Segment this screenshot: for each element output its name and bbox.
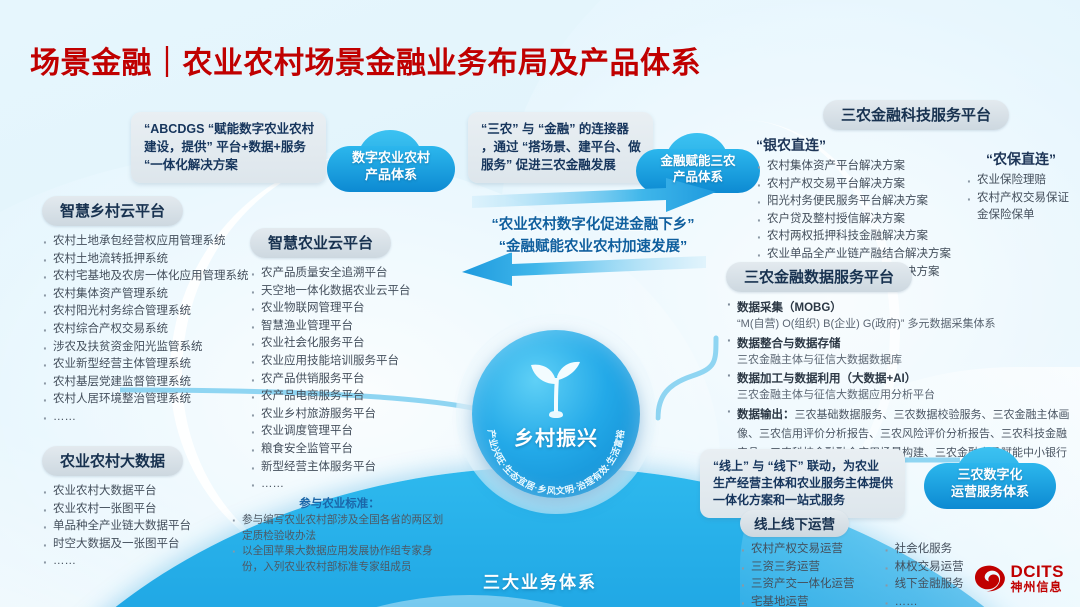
panel-data-service-heading: 三农金融数据服务平台: [726, 262, 912, 292]
brand-logo: DCITS 神州信息: [972, 563, 1065, 593]
callout-center: “三农” 与 “金融” 的连接器 ，通过 “搭场景、建平台、做 服务” 促进三农…: [468, 112, 653, 183]
list-item: 农业保险理赔: [966, 172, 1076, 190]
list-item: 农业新型经营主体管理系统: [42, 356, 257, 374]
list-item: ……: [884, 594, 990, 607]
logo-cn: 神州信息: [1011, 581, 1065, 593]
list-item: 以全国苹果大数据应用发展协作组专家身份，入列农业农村部标准专家组成员: [232, 544, 447, 575]
callout-br-line1: “线上” 与 “线下” 联动，为农业: [713, 458, 893, 475]
logo-wordmark: DCITS 神州信息: [1011, 563, 1065, 593]
list-item: 农村阳光村务综合管理系统: [42, 303, 257, 321]
central-hub-rural-revitalization[interactable]: 乡村振兴 产业兴旺·生态宜居·乡风文明·治理有效·生活富裕: [472, 330, 640, 498]
list-item: 农业乡村旅游服务平台: [250, 406, 450, 424]
panel-smart-agriculture-cloud: 智慧农业云平台 农产品质量安全追溯平台 天空地一体化数据农业云平台 农业物联网管…: [250, 228, 450, 494]
list-item: 农业物联网管理平台: [250, 300, 450, 318]
background-bottom-wave-highlight: [120, 595, 820, 607]
panel-fintech-heading: 三农金融科技服务平台: [823, 100, 1009, 130]
svg-text:产业兴旺·生态宜居·乡风文明·治理有效·生活富裕: 产业兴旺·生态宜居·乡风文明·治理有效·生活富裕: [486, 428, 626, 496]
panel-big-data-heading: 农业农村大数据: [42, 446, 183, 476]
cloud-right-line2: 运营服务体系: [951, 484, 1029, 501]
list-item: 智慧渔业管理平台: [250, 318, 450, 336]
panel-smart-village-cloud: 智慧乡村云平台 农村土地承包经营权应用管理系统 农村土地流转抵押系统 农村宅基地…: [42, 196, 257, 427]
panel-data-service-entries: 数据采集（MOBG） “M(自营) O(组织) B(企业) G(政府)” 多元数…: [726, 298, 1074, 462]
list-item: 农村产权交易保证金保险保单: [966, 190, 1076, 225]
panel-smart-village-list: 农村土地承包经营权应用管理系统 农村土地流转抵押系统 农村宅基地及农房一体化应用…: [42, 233, 257, 427]
list-item: 农村两权抵押科技金融解决方案: [756, 228, 948, 246]
callout-left-line1: “ABCDGS “赋能数字农业农村: [144, 121, 314, 139]
data-entry-key: 数据整合与数据存储: [737, 338, 841, 350]
list-item: 农村人居环境整治管理系统: [42, 391, 257, 409]
list-item: 农村综合产权交易系统: [42, 321, 257, 339]
hub-arc-text-content: 产业兴旺·生态宜居·乡风文明·治理有效·生活富裕: [486, 428, 626, 496]
list-item: 农产品质量安全追溯平台: [250, 265, 450, 283]
list-item: 农业调度管理平台: [250, 423, 450, 441]
list-item: 农村集体资产管理系统: [42, 286, 257, 304]
cloud-left-line1: 数字农业农村: [352, 150, 430, 167]
list-item: 涉农及扶贫资金阳光监管系统: [42, 339, 257, 357]
list-item: 农业农村一张图平台: [42, 501, 252, 519]
list-item: 阳光村务便民服务平台解决方案: [756, 193, 948, 211]
cloud-center-line2: 产品体系: [673, 169, 723, 185]
cloud-sannong-digital-operation-system[interactable]: 三农数字化 运营服务体系: [924, 447, 1056, 521]
page-title: 场景金融｜农业农村场景金融业务布局及产品体系: [30, 38, 701, 82]
list-item: ……: [250, 476, 450, 494]
fintech-col1-heading: “银农直连”: [756, 135, 948, 155]
cloud-left-line2: 产品体系: [365, 167, 417, 184]
note-agriculture-standards: 参与农业标准： 参与编写农业农村部涉及全国各省的两区划定质检验收办法 以全国苹果…: [232, 495, 447, 576]
data-entry-key: 数据采集（MOBG）: [737, 302, 842, 314]
cloud-finance-empower-sannong-product-system[interactable]: 金融赋能三农 产品体系: [636, 133, 760, 205]
panel-big-data-list: 农业农村大数据平台 农业农村一张图平台 单品种全产业链大数据平台 时空大数据及一…: [42, 483, 252, 571]
panel-smart-village-heading: 智慧乡村云平台: [42, 196, 183, 226]
cloud-right-line1: 三农数字化: [957, 467, 1022, 484]
panel-online-offline-heading: 线上线下运营: [740, 510, 849, 537]
list-item: 农业社会化服务平台: [250, 335, 450, 353]
list-item: 农业农村大数据平台: [42, 483, 252, 501]
fintech-col2-list: 农业保险理赔 农村产权交易保证金保险保单: [966, 172, 1076, 225]
data-entry-desc: “M(自营) O(组织) B(企业) G(政府)” 多元数据采集体系: [737, 316, 1074, 333]
list-item: 农村产权交易运营: [740, 541, 866, 559]
data-entry-desc: 三农金融主体与征信大数据数据库: [737, 352, 1074, 369]
list-item: 时空大数据及一张图平台: [42, 536, 252, 554]
list-item: 农村基层党建监督管理系统: [42, 374, 257, 392]
callout-center-line2: ，通过 “搭场景、建平台、做: [481, 139, 641, 157]
list-item: 农村产权交易平台解决方案: [756, 176, 948, 194]
list-item: 农村土地承包经营权应用管理系统: [42, 233, 257, 251]
callout-center-line1: “三农” 与 “金融” 的连接器: [481, 121, 641, 139]
cloud-left-text: 数字农业农村 产品体系: [327, 130, 455, 204]
data-entry-key: 数据加工与数据利用（大数据+AI）: [737, 373, 916, 385]
panel-agriculture-big-data: 农业农村大数据 农业农村大数据平台 农业农村一张图平台 单品种全产业链大数据平台…: [42, 446, 252, 571]
center-slogan-line2: “金融赋能农业农村加速发展”: [443, 237, 743, 259]
panel-sannong-finance-data-service-platform: 三农金融数据服务平台 数据采集（MOBG） “M(自营) O(组织) B(企业)…: [726, 262, 1074, 463]
list-item: ……: [42, 553, 252, 571]
note-list: 参与编写农业农村部涉及全国各省的两区划定质检验收办法 以全国苹果大数据应用发展协…: [232, 513, 447, 576]
data-entry: 数据整合与数据存储 三农金融主体与征信大数据数据库: [726, 334, 1074, 369]
list-item: 参与编写农业农村部涉及全国各省的两区划定质检验收办法: [232, 513, 447, 544]
list-item: 新型经营主体服务平台: [250, 459, 450, 477]
list-item: 社会化服务: [884, 541, 990, 559]
center-slogan: “农业农村数字化促进金融下乡” “金融赋能农业农村加速发展”: [443, 215, 743, 259]
cloud-center-line1: 金融赋能三农: [660, 153, 735, 169]
callout-br-line2: 生产经营主体和农业服务主体提供: [713, 475, 893, 492]
list-item: 粮食安全监管平台: [250, 441, 450, 459]
list-item: 天空地一体化数据农业云平台: [250, 283, 450, 301]
data-entry: 数据加工与数据利用（大数据+AI） 三农金融主体与征信大数据应用分析平台: [726, 369, 1074, 404]
note-heading: 参与农业标准：: [232, 495, 447, 511]
panel-smart-agriculture-heading: 智慧农业云平台: [250, 228, 391, 258]
panel-online-offline-operation: 线上线下运营 农村产权交易运营 三资三务运营 三资产交一体化运营 宅基地运营 社…: [740, 510, 990, 607]
list-item: 农村集体资产平台解决方案: [756, 158, 948, 176]
list-item: 单品种全产业链大数据平台: [42, 518, 252, 536]
callout-left: “ABCDGS “赋能数字农业农村 建设，提供” 平台+数据+服务 “一体化解决…: [131, 112, 326, 183]
list-item: 农业应用技能培训服务平台: [250, 353, 450, 371]
logo-en: DCITS: [1011, 563, 1065, 580]
callout-bottom-right: “线上” 与 “线下” 联动，为农业 生产经营主体和农业服务主体提供 一体化方案…: [700, 449, 905, 518]
fintech-col2-heading: “农保直连”: [966, 149, 1076, 169]
data-entry-key: 数据输出：: [737, 409, 795, 421]
list-item: ……: [42, 409, 257, 427]
list-item: 农户贷及整村授信解决方案: [756, 211, 948, 229]
callout-center-line3: 服务” 促进三农金融发展: [481, 157, 641, 175]
data-entry: 数据采集（MOBG） “M(自营) O(组织) B(企业) G(政府)” 多元数…: [726, 298, 1074, 333]
callout-br-line3: 一体化方案和一站式服务: [713, 492, 893, 509]
list-item: 宅基地运营: [740, 594, 866, 607]
list-item: 农业单品全产业链产融结合解决方案: [756, 246, 948, 264]
list-item: 农产品电商服务平台: [250, 388, 450, 406]
cloud-digital-agriculture-product-system[interactable]: 数字农业农村 产品体系: [327, 130, 455, 204]
hub-arc-text: 产业兴旺·生态宜居·乡风文明·治理有效·生活富裕: [472, 330, 640, 498]
callout-left-line2: 建设，提供” 平台+数据+服务: [144, 139, 314, 157]
list-item: 农村宅基地及农房一体化应用管理系统: [42, 268, 257, 286]
list-item: 三资产交一体化运营: [740, 576, 866, 594]
callout-left-line3: “一体化解决方案: [144, 157, 314, 175]
list-item: 农产品供销服务平台: [250, 371, 450, 389]
center-slogan-line1: “农业农村数字化促进金融下乡”: [443, 215, 743, 237]
dcits-swirl-icon: [972, 563, 1006, 593]
list-item: 农村土地流转抵押系统: [42, 251, 257, 269]
online-offline-col1-list: 农村产权交易运营 三资三务运营 三资产交一体化运营 宅基地运营: [740, 541, 866, 607]
cloud-center-text: 金融赋能三农 产品体系: [636, 133, 760, 205]
panel-smart-agriculture-list: 农产品质量安全追溯平台 天空地一体化数据农业云平台 农业物联网管理平台 智慧渔业…: [250, 265, 450, 494]
cloud-right-text: 三农数字化 运营服务体系: [924, 447, 1056, 521]
data-entry-desc: 三农金融主体与征信大数据应用分析平台: [737, 387, 1074, 404]
list-item: 三资三务运营: [740, 559, 866, 577]
